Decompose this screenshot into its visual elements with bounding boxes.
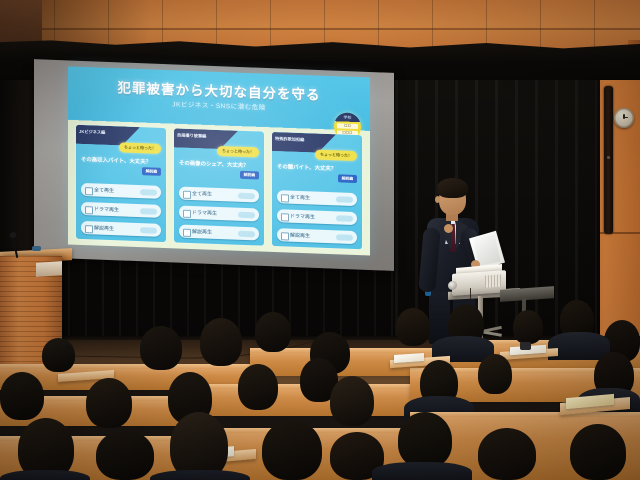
panel-row-label: 全て再生 [94,186,114,194]
panel-row-label: 解説再生 [290,232,310,240]
audience-head [513,310,543,344]
audience-head [262,420,322,480]
bench-top-edge [410,412,640,417]
audience-head [255,312,291,352]
audience-head [330,376,374,426]
wall-clock-icon [614,108,634,128]
panel-row: 全て再生 [81,183,161,199]
panel-row: 全て再生 [179,187,259,203]
presenter-hair [437,178,468,198]
audience-head [238,364,278,410]
audience-shoulders [372,462,472,480]
panel-row: 解説再生 [277,228,357,244]
checkbox-icon [281,232,289,240]
panel-ribbon-label: 自画撮り被害編 [177,132,206,139]
panel-row-thumb [238,211,255,218]
audience-head [398,412,452,468]
panel-row-label: 解説再生 [94,224,114,232]
panel-ribbon-label: JKビジネス編 [79,129,105,136]
slide-badge-row-1: 口ロ [337,123,358,129]
checkbox-icon [85,225,93,233]
projector-lens-icon [448,281,457,291]
panel-row: ドラマ再生 [179,206,259,222]
slide-panel-jigadori: 自画撮り被害編 ちょっと待った！ その画像のシェア、大丈夫？ 解説編 全て再生 … [174,128,264,245]
panel-tag: 解説編 [338,174,357,183]
audience-head [86,378,132,428]
panel-row-label: 全て再生 [192,190,212,198]
panel-heading: その高収入バイト、大丈夫？ [81,155,161,166]
slide-panel-tokushu-sagi: 特殊詐欺加担編 ちょっと待った！ その闇バイト、大丈夫？ 解説編 全て再生 ドラ… [272,132,362,249]
panel-row: ドラマ再生 [81,202,161,218]
slide-badge-top-label: 学校 [334,114,361,121]
panel-row-thumb [140,189,157,196]
audience-head [478,354,512,394]
audience-head [42,338,75,372]
audience-head [200,318,242,366]
checkbox-icon [85,187,93,195]
panel-row: 解説再生 [81,221,161,237]
projected-slide: 犯罪被害から大切な自分を守る JKビジネス・SNSに潜む危険 学校 口ロ 口ロロ… [68,66,370,255]
audience-head [570,424,626,480]
panel-ribbon-label: 特殊詐欺加担編 [275,136,304,143]
desk-device [520,342,531,350]
panel-heading: その画像のシェア、大丈夫？ [179,159,259,170]
panel-row: 解説再生 [179,225,259,241]
checkbox-icon [85,206,93,214]
panel-row: ドラマ再生 [277,209,357,225]
audience-head [0,372,44,420]
panel-row-label: ドラマ再生 [290,213,315,221]
presenter-hand-left [444,224,453,233]
panel-row: 全て再生 [277,190,357,206]
panel-row-thumb [140,208,157,215]
panel-row-label: 解説再生 [192,228,212,236]
checkbox-icon [183,209,191,217]
presenter-ear [435,196,440,203]
slide-panel-jk-business: JKビジネス編 ちょっと待った！ その高収入バイト、大丈夫？ 解説編 全て再生 … [76,125,166,242]
panel-tag: 解説編 [240,171,259,180]
bench-row-mid-center [180,388,410,416]
panel-row-thumb [336,215,353,222]
panel-pill-label: ちょっと待った！ [217,146,259,158]
panel-row-label: ドラマ再生 [94,205,119,213]
panel-row-thumb [238,230,255,237]
projector-vent [485,274,501,287]
audience-shoulders [0,470,90,480]
checkbox-icon [281,194,289,202]
audience-head [140,326,182,370]
panel-row-label: 全て再生 [290,194,310,202]
audience-head [96,430,154,480]
bench-top-edge [180,384,410,389]
panel-pill-label: ちょっと待った！ [315,150,357,162]
panel-row-thumb [140,227,157,234]
panel-tag: 解説編 [142,167,161,176]
lectern-device [32,246,41,251]
checkbox-icon [281,213,289,221]
panel-pill-label: ちょっと待った！ [119,142,161,154]
panel-heading: その闇バイト、大丈夫？ [277,162,357,173]
panel-row-thumb [336,234,353,241]
wall-speaker-grille-icon [604,86,613,234]
panel-row-label: ドラマ再生 [192,209,217,217]
lecture-hall-photo: 犯罪被害から大切な自分を守る JKビジネス・SNSに潜む危険 学校 口ロ 口ロロ… [0,0,640,480]
audience-shoulders [150,470,250,480]
checkbox-icon [183,190,191,198]
slide-panel-group: JKビジネス編 ちょっと待った！ その高収入バイト、大丈夫？ 解説編 全て再生 … [76,125,362,249]
audience-head [396,308,430,346]
panel-row-thumb [336,196,353,203]
audience-head [478,428,536,480]
checkbox-icon [183,228,191,236]
panel-row-thumb [238,192,255,199]
